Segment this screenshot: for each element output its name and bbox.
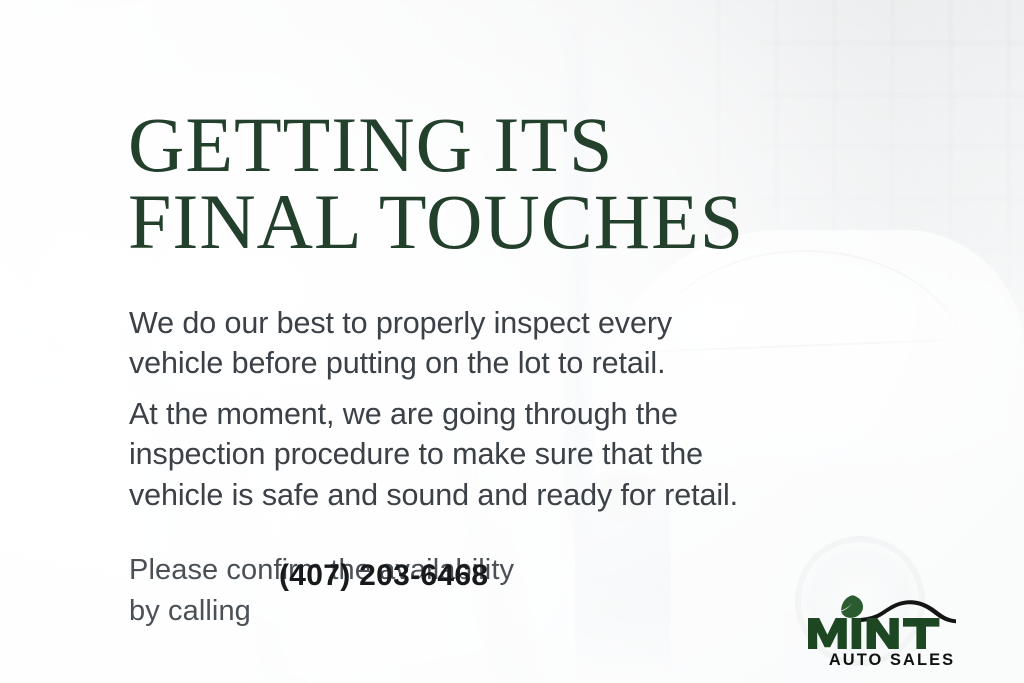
mint-leaf-icon bbox=[841, 595, 863, 618]
mint-wordmark bbox=[808, 618, 939, 649]
body-paragraph-1: We do our best to properly inspect every… bbox=[129, 303, 829, 384]
promotional-graphic: GETTING ITS FINAL TOUCHES We do our best… bbox=[0, 0, 1024, 683]
phone-number[interactable]: (407) 203-6468 bbox=[279, 559, 488, 593]
headline: GETTING ITS FINAL TOUCHES bbox=[128, 106, 888, 260]
logo-tagline: AUTO SALES bbox=[829, 651, 955, 669]
mint-auto-sales-logo: AUTO SALES bbox=[806, 592, 978, 670]
body-paragraph-2: At the moment, we are going through the … bbox=[129, 394, 869, 516]
content-layer: GETTING ITS FINAL TOUCHES We do our best… bbox=[0, 0, 1024, 683]
